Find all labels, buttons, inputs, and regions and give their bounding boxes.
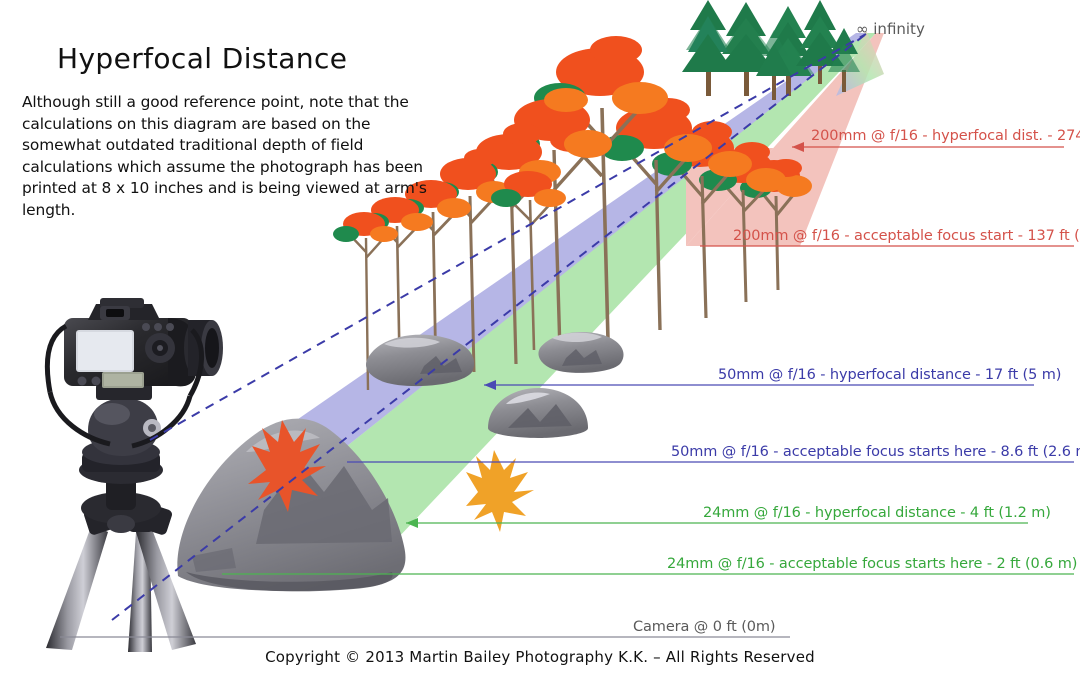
annotation-200mm-focus-start: 200mm @ f/16 - acceptable focus start - … bbox=[733, 228, 1080, 244]
camera-tripod bbox=[46, 298, 223, 652]
intro-paragraph: Although still a good reference point, n… bbox=[22, 92, 442, 221]
annotation-50mm-focus-start: 50mm @ f/16 - acceptable focus starts he… bbox=[671, 444, 1080, 460]
diagram-canvas: Hyperfocal Distance Although still a goo… bbox=[0, 0, 1080, 675]
tripod bbox=[46, 376, 196, 652]
annotation-camera-origin: Camera @ 0 ft (0m) bbox=[633, 619, 775, 635]
infinity-label: ∞ infinity bbox=[856, 20, 925, 38]
annotation-200mm-hyperfocal: 200mm @ f/16 - hyperfocal dist. - 274 ft… bbox=[811, 128, 1080, 144]
page-title: Hyperfocal Distance bbox=[57, 42, 347, 75]
annotation-24mm-hyperfocal: 24mm @ f/16 - hyperfocal distance - 4 ft… bbox=[703, 505, 1051, 521]
annotation-24mm-focus-start: 24mm @ f/16 - acceptable focus starts he… bbox=[667, 556, 1077, 572]
annotation-50mm-hyperfocal: 50mm @ f/16 - hyperfocal distance - 17 f… bbox=[718, 367, 1061, 383]
copyright-notice: Copyright © 2013 Martin Bailey Photograp… bbox=[0, 648, 1080, 666]
pine-tree bbox=[682, 0, 734, 96]
